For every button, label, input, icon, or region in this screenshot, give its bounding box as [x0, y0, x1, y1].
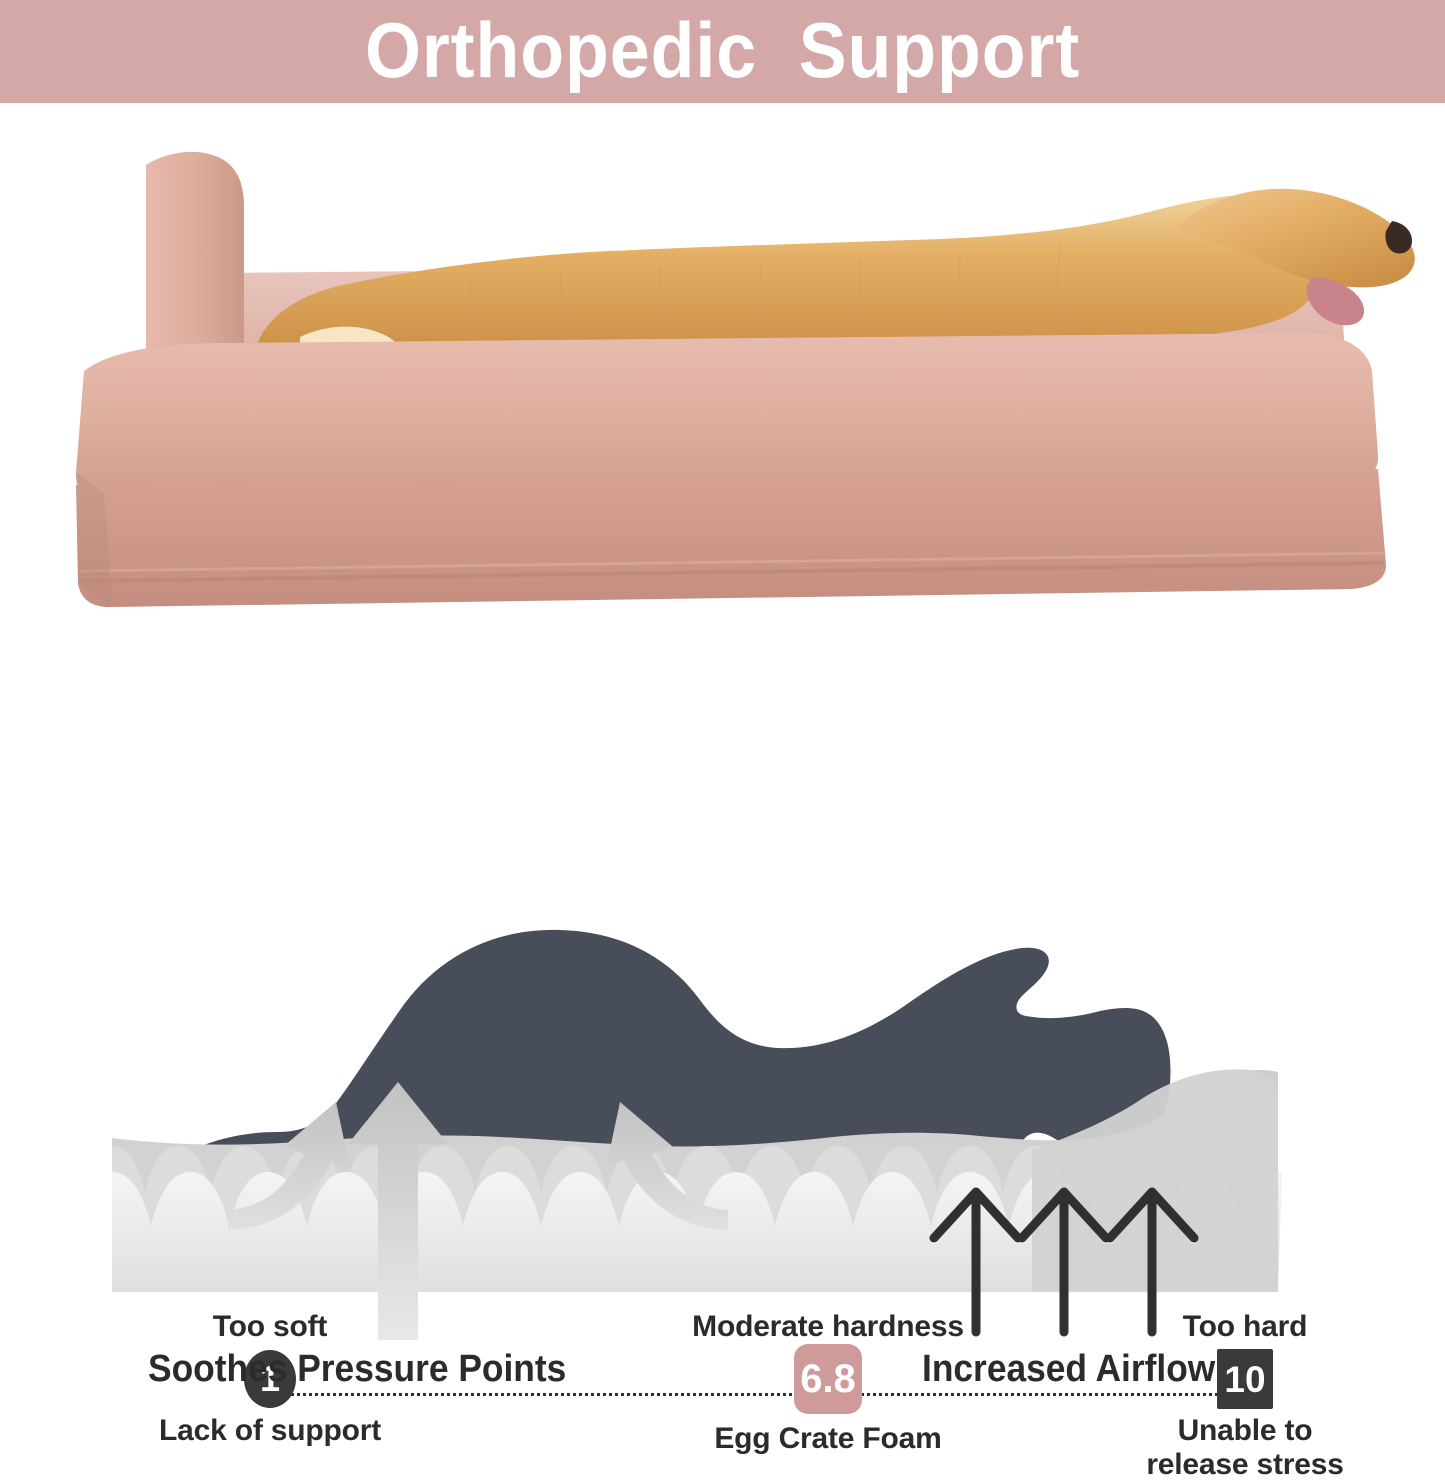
foam-diagram-illustration	[0, 900, 1445, 1340]
hardness-badge-10: 10	[1217, 1349, 1273, 1409]
caption-increased-airflow: Increased Airflow	[922, 1348, 1215, 1391]
product-photo	[0, 103, 1445, 638]
scale-label-too-hard-bottom-line1: Unable to	[1090, 1414, 1400, 1448]
scale-label-too-soft-bottom: Lack of support	[90, 1414, 450, 1448]
header-banner: Orthopedic Support	[0, 0, 1445, 103]
bed-base	[76, 469, 1386, 607]
scale-label-too-hard-bottom-line2: release stress	[1090, 1448, 1400, 1481]
product-photo-illustration	[0, 103, 1445, 638]
caption-soothes-pressure-points: Soothes Pressure Points	[148, 1348, 566, 1391]
airflow-arrows-core	[934, 1192, 1194, 1332]
hardness-scale: Too soft 1 Lack of support Moderate hard…	[0, 638, 1445, 900]
foam-cross-section-diagram	[0, 900, 1445, 1340]
page-title: Orthopedic Support	[365, 11, 1080, 89]
scale-label-moderate-bottom: Egg Crate Foam	[638, 1422, 1018, 1456]
hardness-badge-6-8: 6.8	[794, 1344, 862, 1414]
